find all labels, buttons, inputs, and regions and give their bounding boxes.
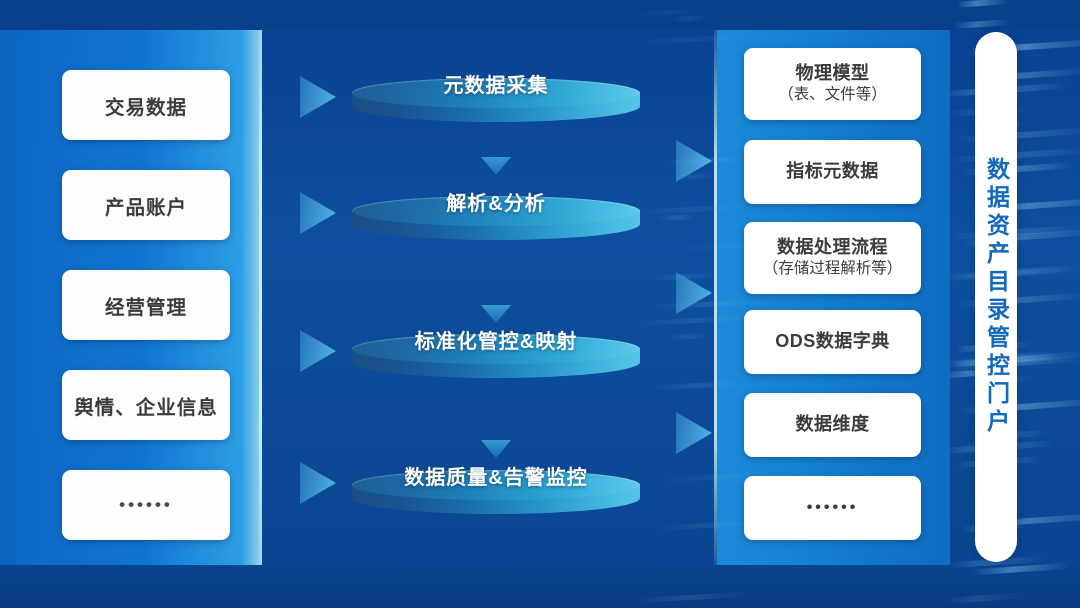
background-top-strip	[0, 0, 1080, 30]
pipeline-stage-parse-analyze[interactable]: 解析&分析	[352, 196, 640, 242]
wave-streak	[656, 214, 697, 221]
wave-streak	[666, 173, 720, 181]
wave-streak	[956, 0, 1009, 8]
catalog-box-title: ••••••	[807, 498, 859, 519]
source-box-product-account[interactable]: 产品账户	[62, 170, 230, 240]
pipeline-stage-label: 标准化管控&映射	[352, 325, 640, 354]
wave-streak	[640, 34, 747, 45]
wave-streak	[640, 315, 758, 327]
source-box-business-management[interactable]: 经营管理	[62, 270, 230, 340]
pipeline-stage-label: 元数据采集	[352, 69, 640, 98]
pipeline-stage-standardization-mapping[interactable]: 标准化管控&映射	[352, 334, 640, 380]
source-box-label: 舆情、企业信息	[74, 391, 218, 420]
disc-shape: 标准化管控&映射	[352, 334, 640, 380]
portal-label: 数据资产目录管控门户	[985, 157, 1008, 437]
catalog-box-ods-data-dictionary[interactable]: ODS数据字典	[744, 310, 921, 374]
wave-streak	[669, 15, 710, 22]
catalog-box-indicator-metadata[interactable]: 指标元数据	[744, 140, 921, 204]
pipeline-stage-metadata-collection[interactable]: 元数据采集	[352, 78, 640, 124]
source-box-label: 交易数据	[105, 91, 187, 120]
catalog-box-subtitle: （存储过程解析等）	[763, 259, 903, 280]
wave-streak	[640, 592, 751, 603]
source-box-label: 产品账户	[105, 191, 187, 220]
wave-streak	[955, 292, 1080, 307]
source-box-more[interactable]: ••••••	[62, 470, 230, 540]
background-wave-texture-secondary	[640, 0, 760, 608]
background-bottom-strip	[0, 565, 1080, 608]
source-box-transaction-data[interactable]: 交易数据	[62, 70, 230, 140]
catalog-box-physical-model[interactable]: 物理模型 （表、文件等）	[744, 48, 921, 120]
wave-streak	[649, 380, 747, 390]
catalog-box-title: 物理模型	[796, 62, 870, 85]
catalog-box-data-dimension[interactable]: 数据维度	[744, 393, 921, 457]
source-box-label: ••••••	[119, 495, 173, 515]
catalog-box-title: 数据处理流程	[777, 236, 888, 259]
diagram-canvas: 交易数据 产品账户 经营管理 舆情、企业信息 •••••• 元数据采集 解析&分…	[0, 0, 1080, 608]
catalog-box-more[interactable]: ••••••	[744, 476, 921, 540]
catalog-box-title: ODS数据字典	[775, 330, 890, 353]
source-box-public-opinion-enterprise-info[interactable]: 舆情、企业信息	[62, 370, 230, 440]
source-column-edge-highlight	[259, 30, 262, 565]
pipeline-stage-label: 解析&分析	[352, 187, 640, 216]
wave-streak	[666, 333, 710, 340]
catalog-box-title: 数据维度	[796, 413, 870, 436]
disc-shape: 元数据采集	[352, 78, 640, 124]
source-box-label: 经营管理	[105, 291, 187, 320]
portal-bar[interactable]: 数据资产目录管控门户	[975, 32, 1017, 562]
wave-streak	[649, 299, 760, 310]
pipeline-stage-data-quality-alert-monitoring[interactable]: 数据质量&告警监控	[352, 470, 640, 516]
pipeline-stage-label: 数据质量&告警监控	[352, 461, 640, 490]
catalog-box-subtitle: （表、文件等）	[778, 85, 887, 106]
wave-streak	[950, 592, 1028, 604]
wave-streak	[953, 19, 1011, 29]
wave-streak	[656, 520, 755, 530]
catalog-box-title: 指标元数据	[786, 160, 879, 183]
catalog-box-data-process-flow[interactable]: 数据处理流程 （存储过程解析等）	[744, 222, 921, 294]
disc-shape: 解析&分析	[352, 196, 640, 242]
disc-shape: 数据质量&告警监控	[352, 470, 640, 516]
